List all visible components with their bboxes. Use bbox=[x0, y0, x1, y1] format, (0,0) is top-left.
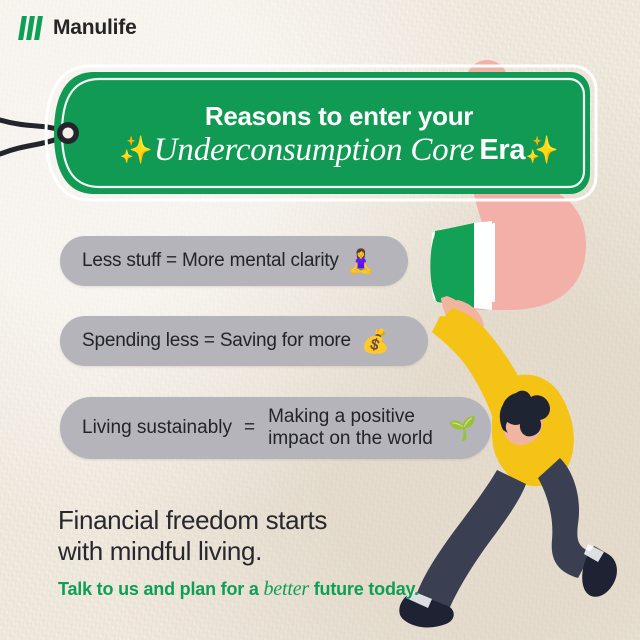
poster-canvas: Manulife Reasons to enter your ✨ Underco… bbox=[0, 0, 640, 640]
footer-cta[interactable]: Talk to us and plan for a better future … bbox=[58, 578, 478, 601]
headline-tag: Reasons to enter your ✨ Underconsumption… bbox=[24, 62, 600, 204]
tag-line-1: Reasons to enter your bbox=[205, 103, 473, 130]
benefit-pill-1-text: Less stuff = More mental clarity bbox=[82, 250, 339, 272]
footer-headline: Financial freedom starts with mindful li… bbox=[58, 505, 478, 566]
seedling-emoji: 🌱 bbox=[448, 417, 477, 440]
tag-strong: Era bbox=[475, 134, 525, 167]
sparkles-right-icon: ✨ bbox=[525, 137, 559, 164]
benefit-pill-list: Less stuff = More mental clarity 🧘‍♀️ Sp… bbox=[60, 236, 520, 459]
brand-name: Manulife bbox=[53, 16, 137, 40]
footer-cta-pre: Talk to us and plan for a bbox=[58, 579, 264, 599]
footer-headline-line-1: Financial freedom starts bbox=[58, 505, 478, 536]
benefit-pill-3-equals: = bbox=[240, 417, 260, 439]
footer-cta-emphasis: better bbox=[264, 578, 309, 600]
benefit-pill-2-text: Spending less = Saving for more bbox=[82, 330, 351, 352]
footer-copy: Financial freedom starts with mindful li… bbox=[58, 505, 478, 601]
footer-cta-post: future today. bbox=[309, 579, 419, 599]
tag-emphasis: Underconsumption Core bbox=[153, 132, 476, 169]
benefit-pill-3-lead: Living sustainably bbox=[82, 417, 232, 439]
benefit-pill-3: Living sustainably = Making a positive i… bbox=[60, 397, 491, 459]
brand-header: Manulife bbox=[20, 16, 137, 40]
manulife-bars-icon bbox=[20, 16, 41, 40]
tag-line-2: ✨ Underconsumption Core Era ✨ bbox=[119, 132, 559, 169]
woman-in-lotus-position-emoji: 🧘‍♀️ bbox=[347, 250, 376, 273]
tag-text-block: Reasons to enter your ✨ Underconsumption… bbox=[84, 62, 594, 204]
sparkles-left-icon: ✨ bbox=[119, 137, 153, 164]
benefit-pill-1: Less stuff = More mental clarity 🧘‍♀️ bbox=[60, 236, 408, 286]
footer-headline-line-2: with mindful living. bbox=[58, 536, 478, 567]
benefit-pill-2: Spending less = Saving for more 💰 bbox=[60, 316, 428, 366]
money-bag-emoji: 💰 bbox=[361, 330, 390, 353]
benefit-pill-3-text: Making a positive impact on the world bbox=[268, 406, 440, 449]
tag-string-icon bbox=[0, 120, 60, 130]
